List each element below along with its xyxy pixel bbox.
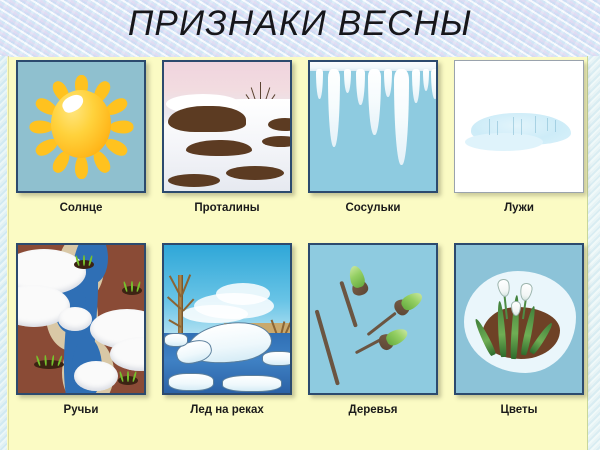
card-label: Сосульки (301, 202, 445, 214)
leaf-bud (346, 264, 370, 297)
card-thawed-ground-image-wrap (162, 60, 292, 193)
puddle-icon (454, 60, 584, 193)
card-trees[interactable]: Деревья (301, 243, 445, 395)
stream-icon (16, 243, 146, 395)
card-puddles[interactable]: Лужи (447, 60, 591, 193)
river-ice-icon (162, 243, 292, 395)
grass-tuft (118, 371, 138, 385)
card-flowers-image-wrap (454, 243, 584, 395)
card-label: Солнце (9, 202, 153, 214)
page-title: ПРИЗНАКИ ВЕСНЫ (0, 4, 600, 44)
card-thawed-ground[interactable]: Проталины (155, 60, 299, 193)
leaf-bud (392, 288, 426, 317)
card-icicles[interactable]: Сосульки (301, 60, 445, 193)
thawed-ground-icon (162, 60, 292, 193)
card-puddles-image-wrap (454, 60, 584, 193)
leaf-bud (376, 325, 410, 353)
snowdrop-flowers-icon (454, 243, 584, 395)
card-river-ice-image-wrap (162, 243, 292, 395)
cards-grid: Солнце (9, 57, 588, 450)
card-sun-image-wrap (16, 60, 146, 193)
grass-tuft (74, 255, 94, 269)
card-trees-image-wrap (308, 243, 438, 395)
card-label: Лужи (447, 202, 591, 214)
card-icicles-image-wrap (308, 60, 438, 193)
card-label: Лед на реках (155, 404, 299, 416)
card-flowers[interactable]: Цветы (447, 243, 591, 395)
grass-tuft (122, 281, 142, 295)
card-label: Цветы (447, 404, 591, 416)
card-streams[interactable]: Ручьи (9, 243, 153, 395)
slide-canvas: ПРИЗНАКИ ВЕСНЫ (0, 0, 600, 450)
card-label: Проталины (155, 202, 299, 214)
title-banner: ПРИЗНАКИ ВЕСНЫ (0, 0, 600, 57)
card-streams-image-wrap (16, 243, 146, 395)
left-edge-strip (0, 56, 7, 450)
card-river-ice[interactable]: Лед на реках (155, 243, 299, 395)
budding-branch-icon (308, 243, 438, 395)
sun-icon (16, 60, 146, 193)
icicles-icon (308, 60, 438, 193)
card-label: Ручьи (9, 404, 153, 416)
card-label: Деревья (301, 404, 445, 416)
card-sun[interactable]: Солнце (9, 60, 153, 193)
grass-tuft (34, 355, 64, 369)
